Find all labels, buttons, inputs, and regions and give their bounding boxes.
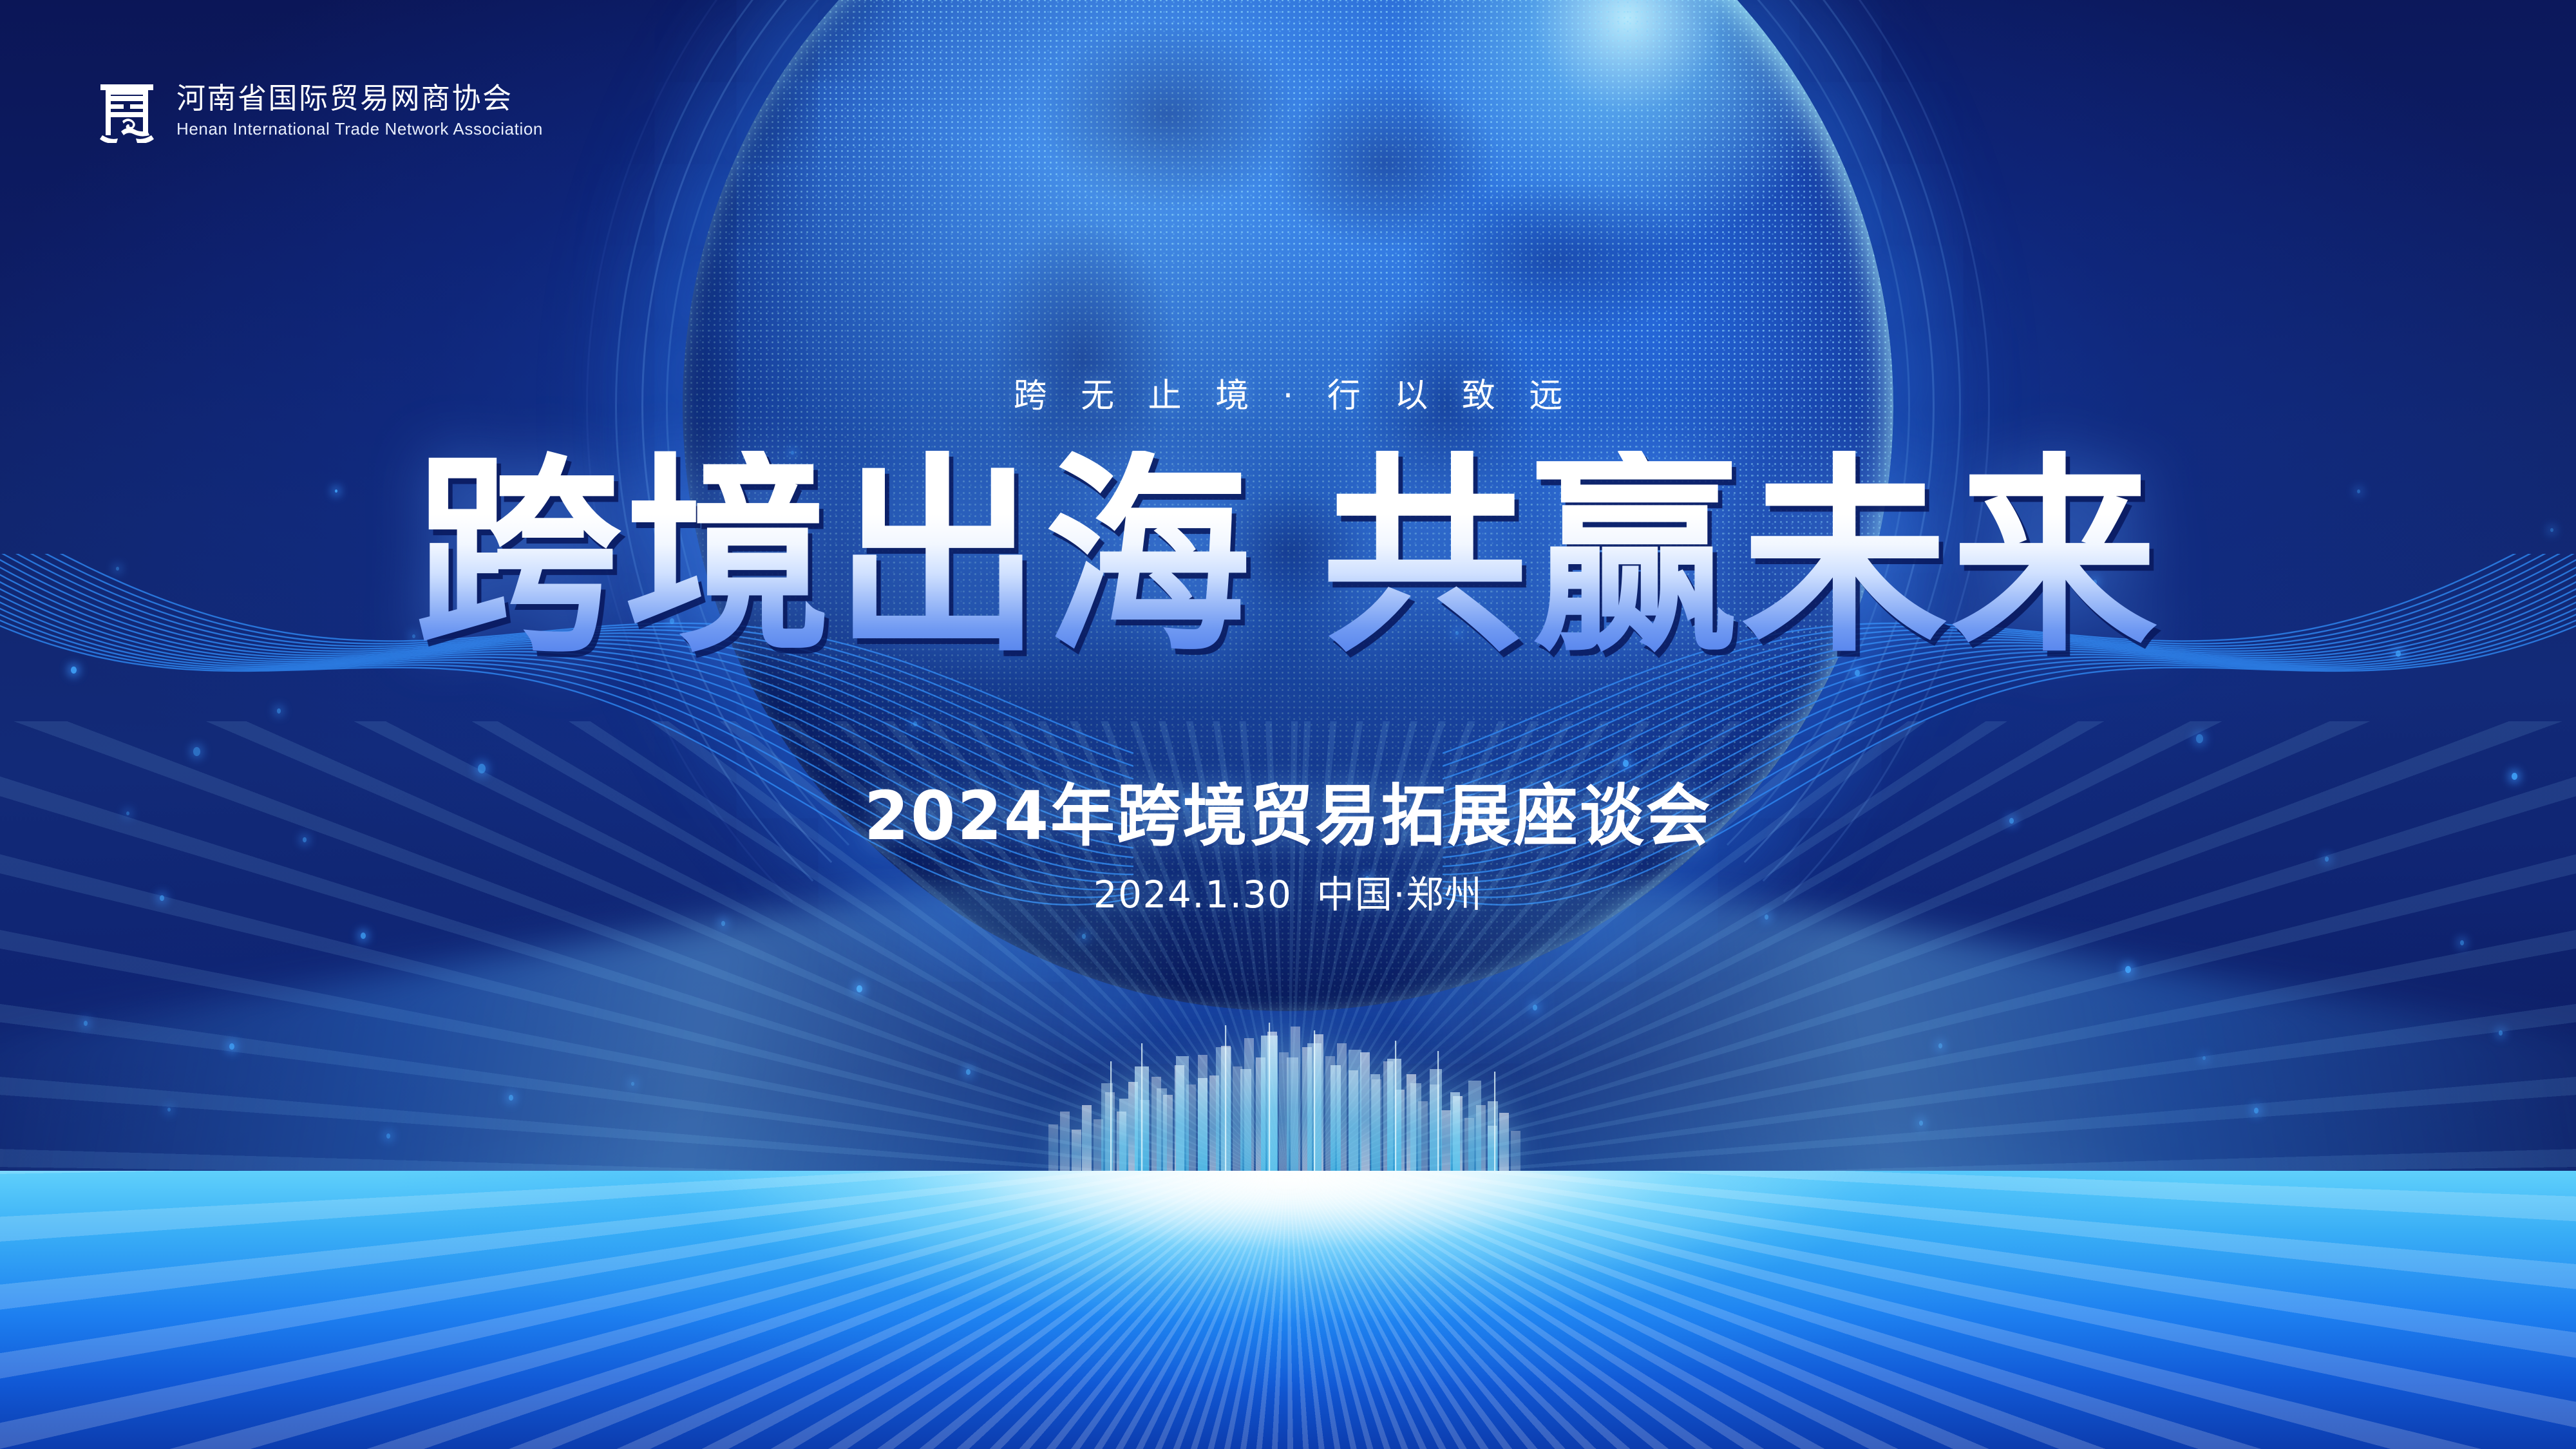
event-location: 中国·郑州	[1316, 873, 1482, 916]
event-banner: 河南省国际贸易网商协会 Henan International Trade Ne…	[0, 0, 2576, 1449]
logo-name-cn: 河南省国际贸易网商协会	[176, 82, 543, 115]
hero-date-location: 2024.1.30中国·郑州	[0, 864, 2576, 918]
seal-script-shang-emblem-icon	[97, 79, 157, 143]
hero-subtitle: 2024年跨境贸易拓展座谈会	[52, 761, 2524, 858]
headline-part-1: 跨境出海	[415, 451, 1255, 663]
association-logo: 河南省国际贸易网商协会 Henan International Trade Ne…	[97, 79, 543, 143]
hero-headline: 跨境出海共赢未来	[0, 451, 2576, 663]
horizon-floor	[0, 1171, 2576, 1449]
headline-part-2: 共赢未来	[1321, 451, 2161, 663]
hero-tagline: 跨 无 止 境 · 行 以 致 远	[0, 368, 2576, 417]
event-date: 2024.1.30	[1094, 873, 1293, 916]
logo-name-en: Henan International Trade Network Associ…	[176, 119, 543, 139]
city-skyline-icon	[0, 1021, 2576, 1173]
